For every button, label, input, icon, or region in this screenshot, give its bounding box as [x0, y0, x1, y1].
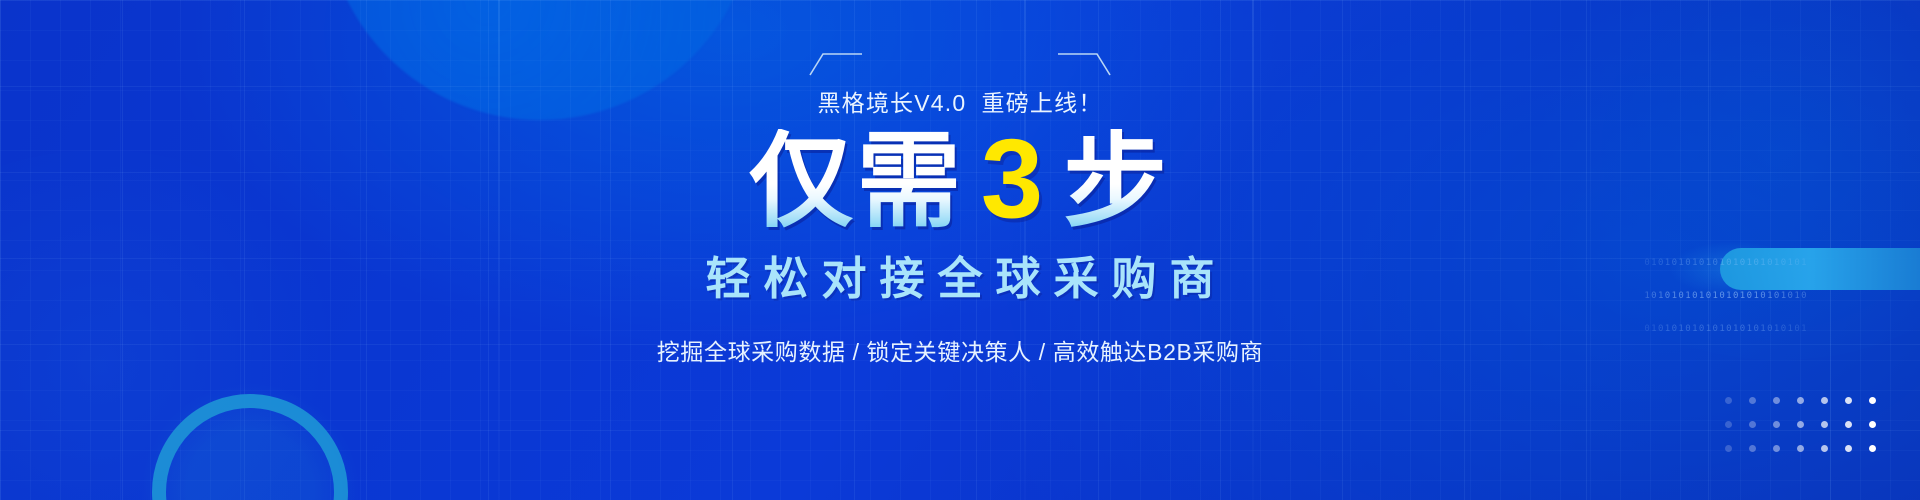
banner-content: 黑格境长V4.0 重磅上线！ 仅需 3 步 轻松对接全球采购商 挖掘全球采购数据…	[0, 0, 1920, 500]
bracket-left-icon	[809, 50, 863, 76]
eyebrow-text: 黑格境长V4.0 重磅上线！	[817, 84, 1102, 118]
tagline-text: 挖掘全球采购数据 / 锁定关键决策人 / 高效触达B2B采购商	[657, 333, 1263, 367]
bracket-right-icon	[1057, 50, 1111, 76]
headline-part-1: 仅需	[749, 129, 965, 235]
eyebrow-group: 黑格境长V4.0 重磅上线！	[817, 86, 1102, 116]
promo-banner: 010101010101010101010101 101010101010101…	[0, 0, 1920, 500]
headline-secondary: 轻松对接全球采购商	[692, 242, 1227, 307]
headline-step-count: 3	[981, 122, 1047, 236]
headline-primary: 仅需 3 步	[749, 122, 1171, 236]
headline-part-3: 步	[1063, 129, 1171, 235]
